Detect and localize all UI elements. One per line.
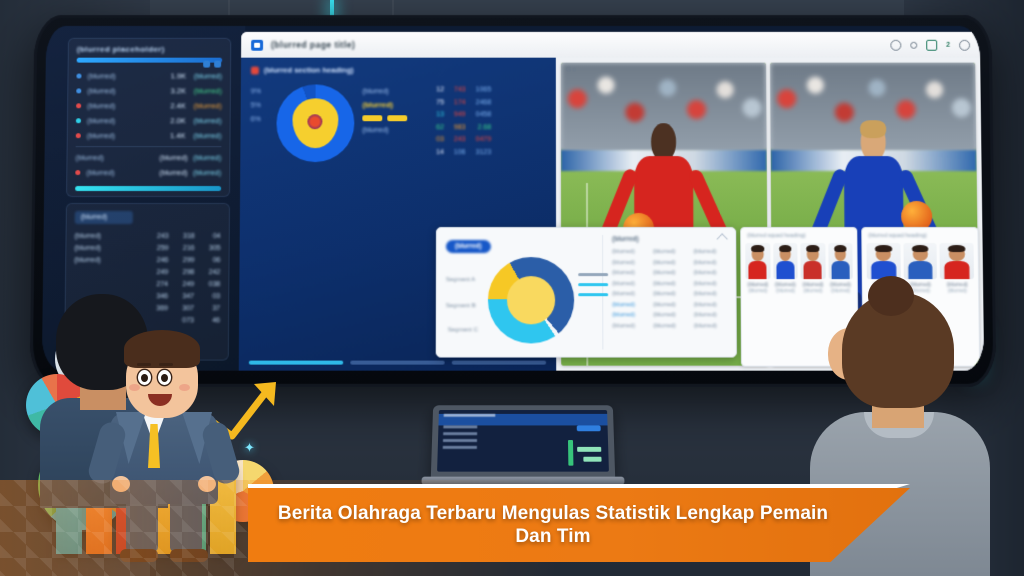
- table-header: (blurred): [75, 211, 133, 224]
- browser-titlebar: (blurred page title) 2: [241, 32, 980, 58]
- donut-section: (blurred) Segment A Segment B Segment C: [446, 235, 603, 349]
- browser-toolbar[interactable]: 2: [890, 39, 970, 50]
- caption-text: Berita Olahraga Terbaru Mengulas Statist…: [248, 488, 858, 562]
- table-header-row: (blurred): [612, 235, 726, 243]
- stat-row[interactable]: (blurred) 2.0K (blurred): [68, 113, 230, 128]
- hero-header: (blurred section heading): [251, 66, 546, 75]
- avatar: [800, 243, 825, 279]
- bullet-icon: [76, 103, 81, 108]
- stat-label: (blurred): [87, 101, 154, 110]
- stat-label: (blurred): [87, 72, 154, 81]
- stats-card[interactable]: (blurred placeholder) (blurred) 1.9K (bl…: [66, 38, 231, 197]
- avatar: [903, 243, 937, 279]
- stat-column: 12 75 13 62 03 14: [436, 86, 444, 162]
- stat-label: (blurred): [87, 86, 154, 95]
- bullet-icon: [75, 170, 80, 175]
- stat-delta: (blurred): [192, 116, 222, 125]
- legend-chips: [362, 115, 428, 121]
- hero-title: (blurred section heading): [264, 66, 354, 75]
- presenter-mascot: [96, 330, 232, 560]
- laptop-base: [421, 477, 624, 485]
- analytics-card[interactable]: (blurred) Segment A Segment B Segment C …: [436, 227, 737, 358]
- stat-column: 743 174 949 983 243 106: [454, 86, 466, 162]
- laptop-screen: [437, 410, 609, 472]
- table-row[interactable]: (blurred) 243 318 04: [66, 230, 228, 242]
- card-actions[interactable]: [203, 61, 221, 68]
- stat-value: (blurred): [159, 153, 185, 162]
- status-dot-icon: [251, 66, 259, 74]
- mid-highlight: (blurred): [362, 100, 428, 109]
- avatar: [745, 243, 770, 279]
- table-row[interactable]: (blurred)(blurred)(blurred): [612, 260, 726, 266]
- sparkle-icon: ✦: [244, 440, 255, 456]
- stat-row[interactable]: (blurred) 2.4K (blurred): [68, 98, 230, 113]
- donut-side-labels: 9% 5% 6%: [250, 80, 269, 162]
- avatar: [940, 243, 974, 279]
- hero-donut-chart[interactable]: [276, 84, 354, 162]
- laptop-dashboard[interactable]: [431, 405, 615, 477]
- table-row[interactable]: (blurred) 259 216 305: [66, 242, 228, 254]
- laptop-lid: [431, 405, 615, 477]
- table-row[interactable]: 274 249 038: [66, 278, 228, 290]
- stat-delta: (blurred): [192, 131, 222, 140]
- table-row[interactable]: (blurred)(blurred)(blurred): [612, 302, 726, 308]
- divider: [76, 146, 222, 147]
- stat-value: 1.4K: [160, 131, 186, 140]
- browser-tab-title[interactable]: (blurred page title): [271, 40, 355, 50]
- roster-group-title: (blurred squad heading): [866, 233, 973, 239]
- hero-stat-columns: 12 75 13 62 03 14 743 174: [436, 80, 546, 162]
- hero-mid-column: (blurred) (blurred) (blurred): [362, 80, 428, 162]
- avatar: [773, 243, 798, 279]
- roster-group-title: (blurred squad heading): [745, 233, 852, 239]
- stat-delta: (blurred): [192, 101, 222, 110]
- table-row[interactable]: (blurred)(blurred)(blurred): [612, 323, 726, 329]
- table-row[interactable]: 249 298 242: [66, 266, 228, 278]
- avatar: [828, 243, 853, 279]
- bar-chart-icon: [568, 440, 573, 466]
- favicon-icon: [251, 39, 263, 50]
- toolbar-badge: 2: [946, 41, 950, 48]
- card-pill-label[interactable]: (blurred): [446, 240, 491, 253]
- donut-label: 6%: [251, 116, 269, 123]
- table-title: (blurred): [612, 236, 639, 243]
- mid-label: (blurred): [362, 88, 428, 95]
- laptop-cta-button: [577, 425, 601, 431]
- stat-row[interactable]: (blurred) 1.4K (blurred): [68, 128, 230, 143]
- stats-card-title: (blurred placeholder): [69, 39, 230, 56]
- donut-slice-label: Segment C: [448, 327, 478, 333]
- stat-delta: (blurred): [192, 72, 222, 81]
- laptop-screen-header: [438, 414, 607, 426]
- table-row[interactable]: (blurred)(blurred)(blurred): [612, 312, 726, 318]
- table-row[interactable]: (blurred) 246 299 06: [66, 254, 228, 266]
- table-row[interactable]: (blurred)(blurred)(blurred): [612, 249, 726, 255]
- stat-column: 1065 2468 0458 2.68 0479 3123: [476, 86, 492, 162]
- stat-label: (blurred): [86, 168, 153, 177]
- stat-label: (blurred): [75, 153, 153, 162]
- player-card[interactable]: (blurred) (blurred): [773, 243, 798, 294]
- stat-row[interactable]: (blurred) (blurred) (blurred): [67, 150, 229, 165]
- stat-row[interactable]: (blurred) 3.2K (blurred): [68, 83, 230, 98]
- laptop-screen-body: [442, 425, 604, 467]
- player-meta: (blurred): [773, 288, 798, 294]
- stat-value: 3.2K: [160, 86, 186, 95]
- bar-chart-icon: [577, 447, 601, 452]
- stat-value: 2.4K: [160, 101, 186, 110]
- bullet-icon: [76, 118, 81, 123]
- card-table-section: (blurred) (blurred)(blurred)(blurred) (b…: [602, 235, 727, 349]
- player-meta: (blurred): [746, 288, 771, 294]
- avatar: [866, 243, 900, 279]
- extension-icon[interactable]: [926, 39, 937, 50]
- stat-row[interactable]: (blurred) 1.9K (blurred): [68, 69, 230, 84]
- donut-center-marker: [307, 114, 322, 129]
- donut-label: 9%: [251, 88, 269, 95]
- profile-icon[interactable]: [959, 39, 970, 50]
- photo-badge: Go: [566, 67, 577, 74]
- gear-icon[interactable]: [890, 39, 901, 50]
- stat-delta: (blurred): [192, 86, 222, 95]
- progress-bar: [75, 186, 221, 191]
- mid-footer: (blurred): [362, 127, 428, 134]
- table-row[interactable]: (blurred)(blurred)(blurred): [612, 291, 726, 297]
- donut-chart[interactable]: [488, 257, 574, 343]
- stat-delta: (blurred): [191, 168, 221, 177]
- hero-body: 9% 5% 6% (blurred) (blurr: [250, 80, 546, 162]
- progress-bar: [77, 58, 222, 63]
- screenshot-root: (blurred placeholder) (blurred) 1.9K (bl…: [0, 0, 1024, 576]
- table-row[interactable]: (blurred)(blurred)(blurred): [612, 270, 726, 276]
- donut-slice-label: Segment B: [446, 303, 476, 309]
- stat-value: 2.0K: [160, 116, 186, 125]
- bar-chart-icon: [583, 457, 601, 462]
- bullet-icon: [76, 133, 81, 138]
- stat-label: (blurred): [87, 131, 154, 140]
- dot-icon[interactable]: [910, 41, 917, 48]
- chart-legend: [578, 273, 608, 296]
- stat-value: 1.9K: [160, 72, 186, 81]
- stat-row[interactable]: (blurred) (blurred) (blurred): [67, 165, 229, 180]
- donut-slice-label: Segment A: [446, 277, 475, 283]
- bullet-icon: [76, 74, 81, 79]
- chevron-up-icon[interactable]: [717, 233, 728, 244]
- caption-line: Berita Olahraga Terbaru Mengulas Statist…: [264, 502, 842, 548]
- stat-label: (blurred): [87, 116, 154, 125]
- bullet-icon: [76, 88, 81, 93]
- stat-delta: (blurred): [191, 153, 221, 162]
- player-card[interactable]: (blurred) (blurred): [745, 243, 770, 294]
- stat-value: (blurred): [159, 168, 185, 177]
- table-row[interactable]: (blurred)(blurred)(blurred): [612, 281, 726, 287]
- donut-label: 5%: [251, 102, 269, 109]
